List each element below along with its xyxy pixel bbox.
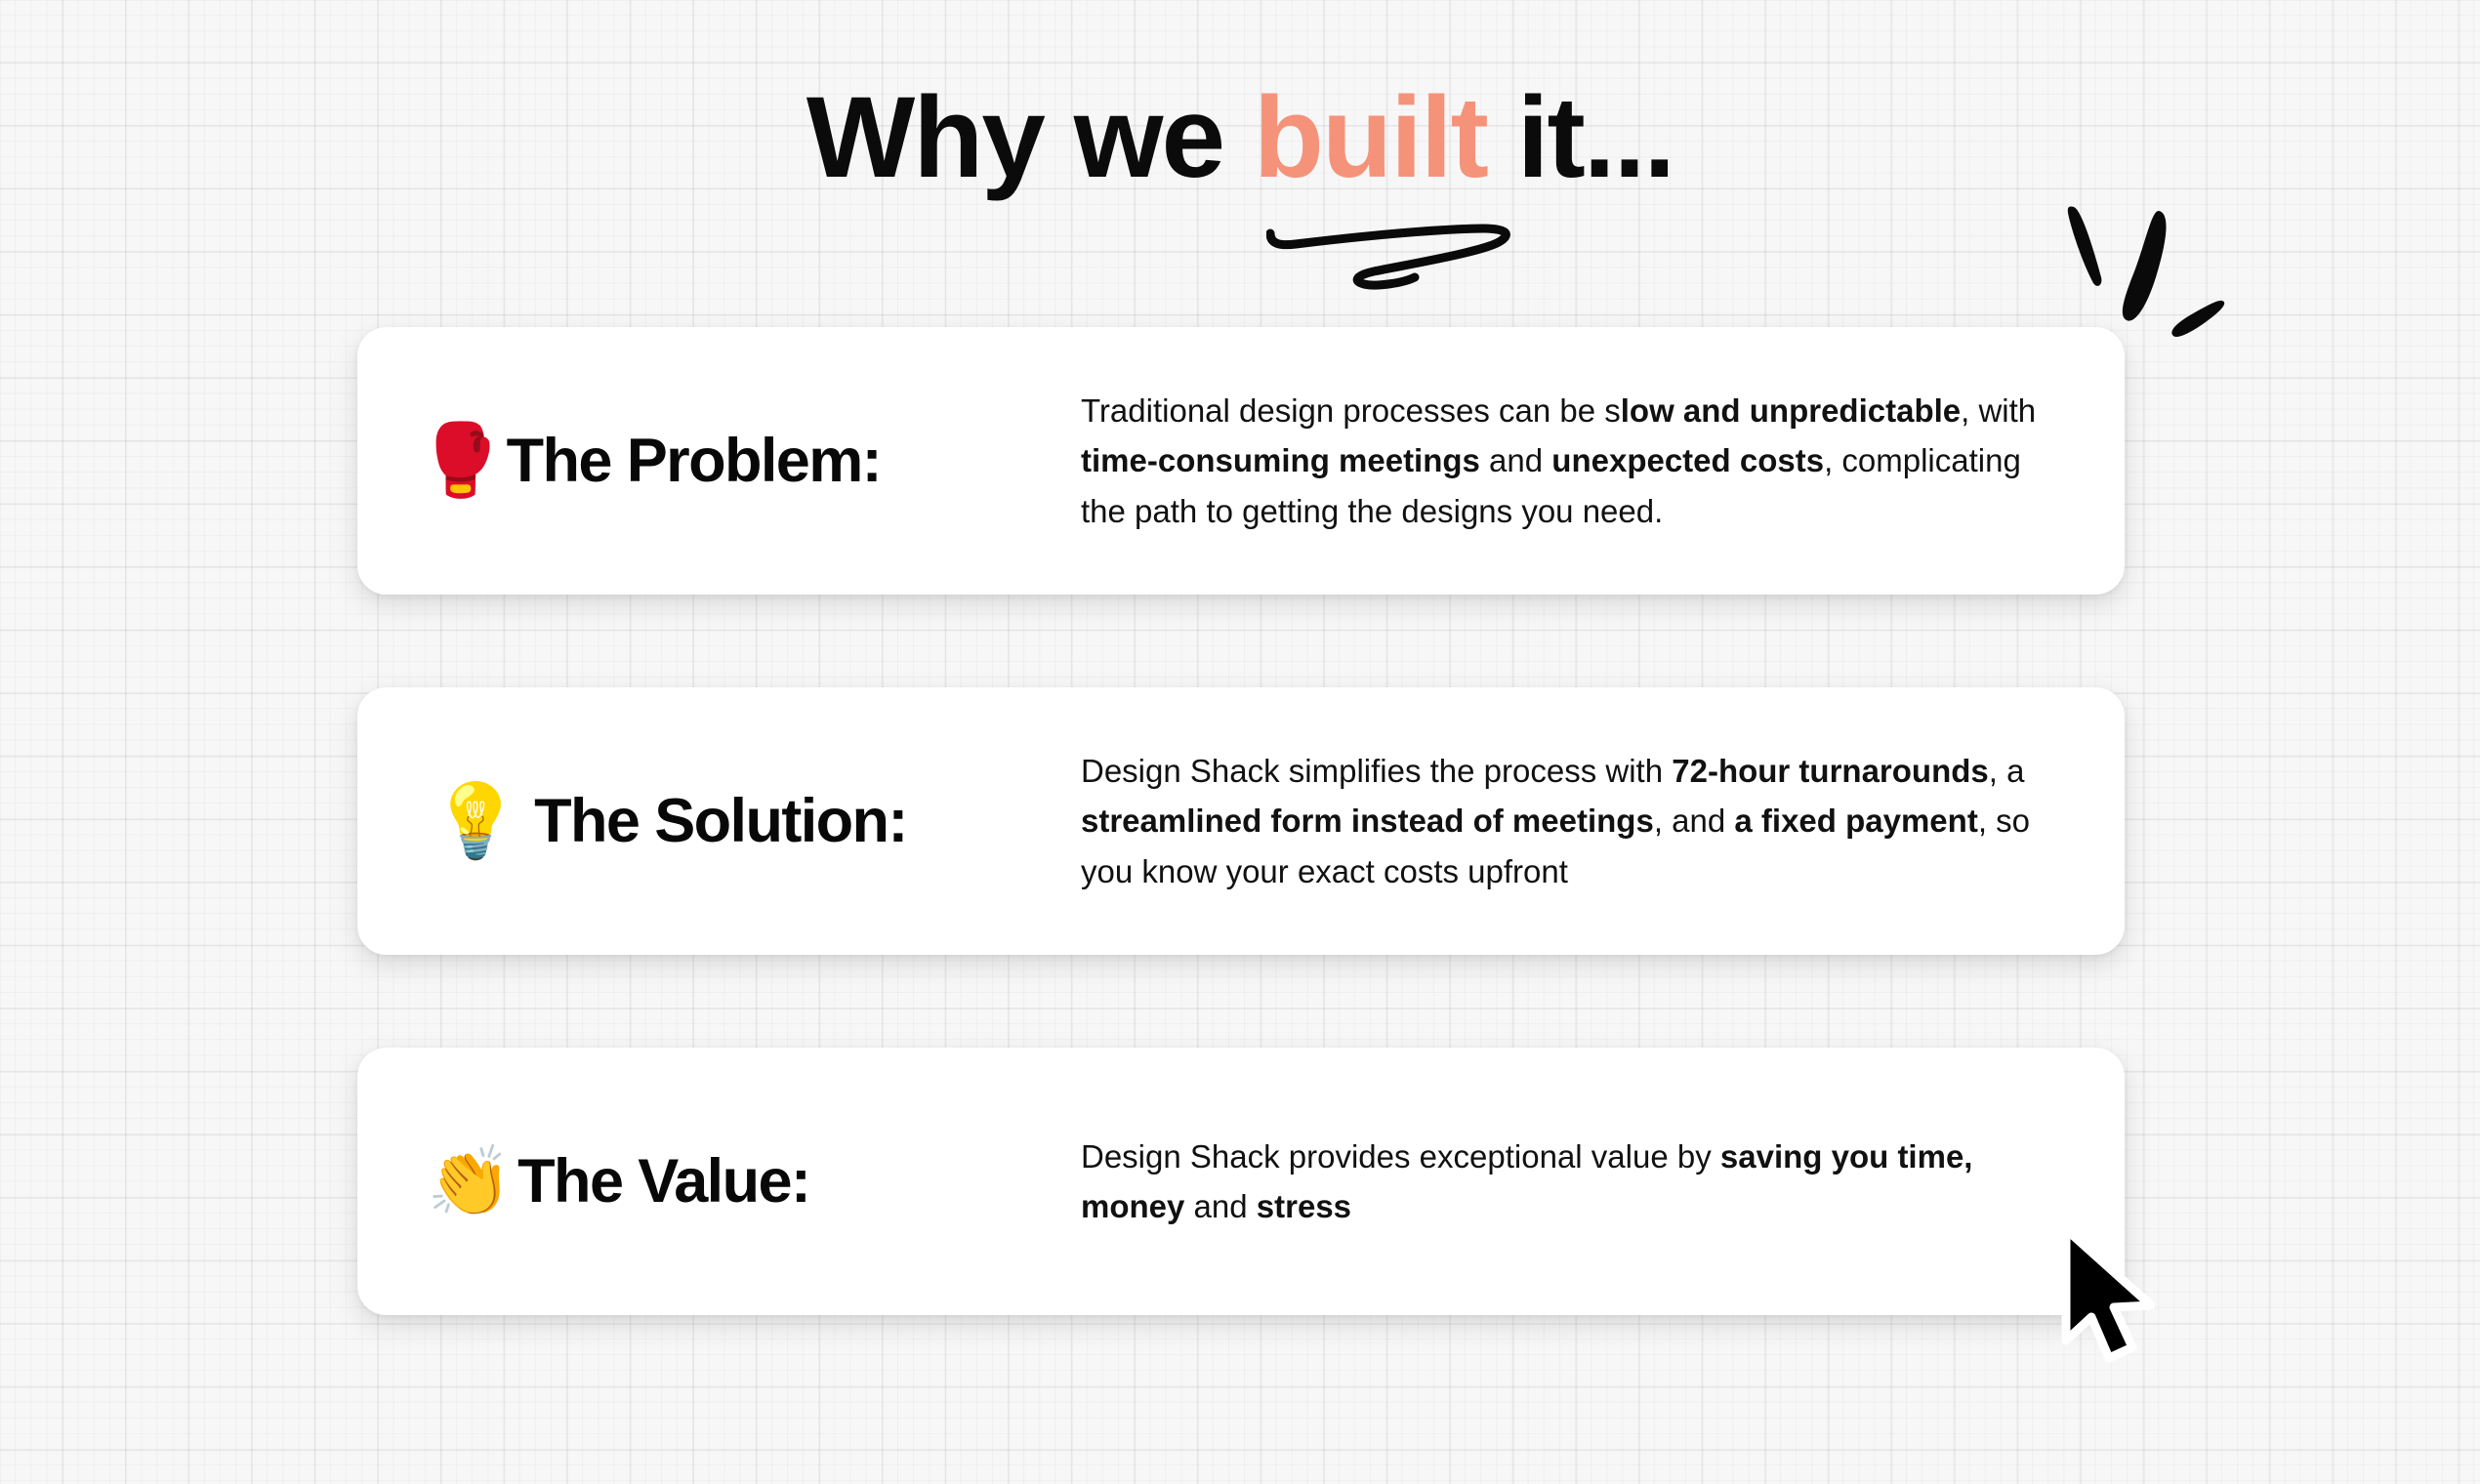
emphasis-text: time-consuming meetings	[1081, 442, 1480, 478]
sparkle-strokes-icon	[2031, 176, 2246, 351]
body-text: , with	[1961, 392, 2036, 429]
emphasis-text: a fixed payment	[1734, 803, 1977, 839]
card-solution-title: The Solution:	[534, 786, 907, 856]
body-text: , a	[1989, 753, 2025, 789]
emphasis-text: low and unpredictable	[1621, 392, 1961, 429]
card-problem-body: Traditional design processes can be slow…	[1081, 386, 2122, 535]
emphasis-text: 72-hour turnarounds	[1672, 753, 1989, 789]
emphasis-text: stress	[1257, 1188, 1351, 1224]
card-value-head: 👏 The Value:	[417, 1146, 1081, 1216]
card-value-body: Design Shack provides exceptional value …	[1081, 1132, 2122, 1231]
boxing-glove-emoji: 🥊	[417, 426, 505, 496]
card-problem-title: The Problem:	[507, 426, 881, 496]
emphasis-text: streamlined form instead of meetings	[1081, 803, 1654, 839]
page-title-prefix: Why we	[806, 73, 1254, 202]
body-text: , and	[1654, 803, 1735, 839]
page-title: Why we built it...	[806, 80, 1674, 195]
page-title-container: Why we built it...	[0, 80, 2480, 195]
card-problem-head: 🥊 The Problem:	[417, 426, 1081, 496]
body-text: Design Shack simplifies the process with	[1081, 753, 1672, 789]
card-solution-head: 💡 The Solution:	[417, 785, 1081, 857]
page-title-suffix: it...	[1487, 73, 1674, 202]
clapping-hands-emoji: 👏	[427, 1147, 512, 1216]
card-solution[interactable]: 💡 The Solution: Design Shack simplifies …	[357, 687, 2125, 955]
cards-container: 🥊 The Problem: Traditional design proces…	[357, 327, 2125, 1315]
card-value[interactable]: 👏 The Value: Design Shack provides excep…	[357, 1048, 2125, 1315]
emphasis-text: unexpected costs	[1551, 442, 1824, 478]
underline-squiggle-icon	[1266, 221, 1559, 299]
body-text: Design Shack provides exceptional value …	[1081, 1138, 1720, 1175]
light-bulb-emoji: 💡	[431, 785, 520, 857]
body-text: Traditional design processes can be s	[1081, 392, 1621, 429]
body-text: and	[1480, 442, 1551, 478]
card-solution-body: Design Shack simplifies the process with…	[1081, 746, 2122, 895]
page-title-accent: built	[1254, 73, 1487, 202]
card-value-title: The Value:	[517, 1146, 809, 1216]
card-problem[interactable]: 🥊 The Problem: Traditional design proces…	[357, 327, 2125, 595]
body-text: and	[1184, 1188, 1256, 1224]
